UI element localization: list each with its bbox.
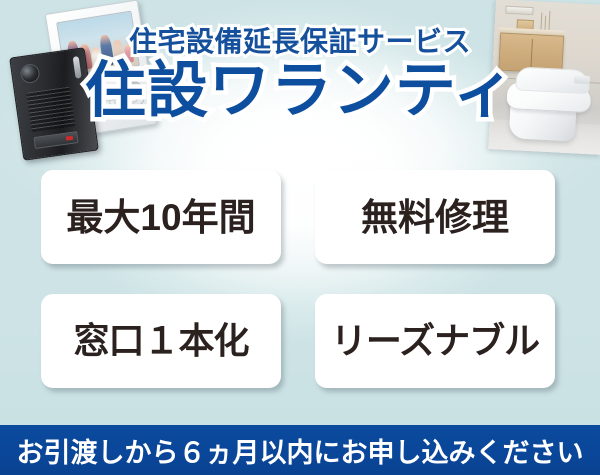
call-to-action-text: お引渡しから６ヵ月以内にお申し込みください [17,431,584,470]
service-subtitle: 住宅設備延長保証サービス [0,20,600,60]
feature-label: 最大10年間 [66,199,255,236]
feature-label: リーズナブル [331,323,539,359]
feature-box-single-contact: 窓口１本化 [41,294,281,388]
page-title: 住設ワランティ [0,58,600,122]
warranty-promo-banner: 住宅設備延長保証サービス 住設ワランティ 最大10年間 無料修理 窓口１本化 リ… [0,0,600,475]
feature-label: 窓口１本化 [73,323,248,359]
feature-box-reasonable: リーズナブル [315,294,555,388]
feature-label: 無料修理 [361,199,509,236]
ceiling-vent [505,6,533,15]
call-to-action-banner: お引渡しから６ヵ月以内にお申し込みください [0,425,600,475]
feature-box-duration: 最大10年間 [41,170,281,264]
feature-box-free-repair: 無料修理 [315,170,555,264]
door-station-call-button [33,131,78,149]
feature-box-grid: 最大10年間 無料修理 窓口１本化 リーズナブル [41,170,559,388]
